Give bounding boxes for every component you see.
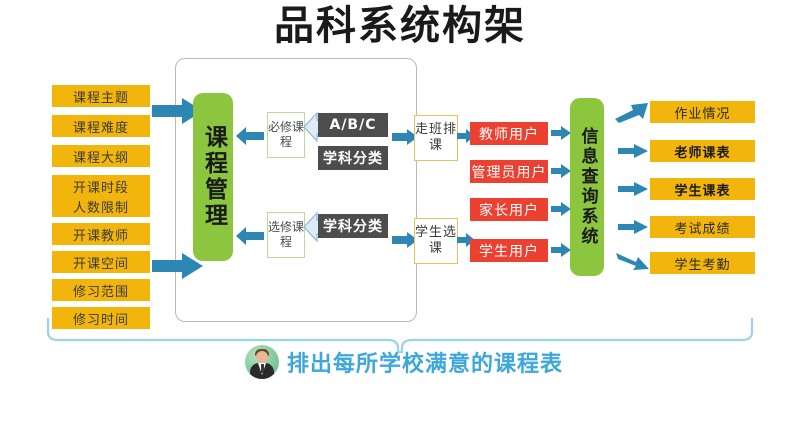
input-box-label: 课程主题 (73, 87, 129, 106)
user-label: 学生用户 (479, 241, 539, 261)
classification-label: A/B/C (329, 117, 376, 133)
arrow-student-to-query-system (551, 243, 571, 257)
input-box-course-difficulty[interactable]: 课程难度 (52, 115, 150, 137)
course-type-box-required[interactable]: 必修课程 (267, 112, 305, 158)
input-box-label: 开课时段 (73, 177, 129, 196)
arrow-elective-to-core (236, 227, 264, 245)
arrow-query-to-student-timetable (618, 182, 648, 196)
arrow-parent-to-query-system (551, 202, 571, 216)
classification-box-abc[interactable]: A/B/C (318, 113, 388, 137)
output-box-homework[interactable]: 作业情况 (650, 101, 755, 123)
course-type-box-elective[interactable]: 选修课程 (267, 212, 305, 258)
arrow-query-to-homework (615, 103, 649, 123)
user-box-parent[interactable]: 家长用户 (470, 198, 548, 221)
classification-label: 学科分类 (323, 216, 383, 236)
classification-label: 学科分类 (323, 148, 383, 168)
summary-caption: 排出每所学校满意的课程表 (245, 345, 563, 379)
output-label: 老师课表 (674, 142, 730, 161)
output-box-teacher-timetable[interactable]: 老师课表 (650, 140, 755, 162)
summary-caption-text: 排出每所学校满意的课程表 (287, 346, 563, 378)
diagram-canvas: 品科系统构架 课程主题 课程难度 课程大纲 开课时段 人数限制 开课教师 开课空… (0, 0, 800, 441)
arrow-required-to-core (236, 127, 264, 145)
arrow-teacher-to-query-system (551, 126, 571, 140)
course-type-label: 选修课程 (268, 220, 304, 250)
input-box-course-topic[interactable]: 课程主题 (52, 85, 150, 107)
input-box-capacity-limit[interactable]: 人数限制 (52, 195, 150, 217)
output-label: 学生课表 (674, 180, 730, 199)
core-box-label: 课程管理 (202, 125, 225, 229)
input-box-teacher[interactable]: 开课教师 (52, 223, 150, 245)
input-box-label: 开课空间 (73, 253, 129, 272)
page-title: 品科系统构架 (0, 2, 800, 50)
input-box-label: 人数限制 (73, 197, 129, 216)
scheduling-box-class-rotation[interactable]: 走班排课 (414, 115, 458, 161)
core-box-course-management[interactable]: 课程管理 (193, 93, 233, 261)
arrow-query-to-teacher-timetable (618, 144, 648, 158)
user-box-student[interactable]: 学生用户 (470, 239, 548, 262)
classification-box-subject-required[interactable]: 学科分类 (318, 146, 388, 170)
input-box-classroom[interactable]: 开课空间 (52, 251, 150, 273)
arrow-query-to-attendance (616, 250, 650, 270)
output-label: 考试成绩 (674, 218, 730, 237)
output-label: 学生考勤 (674, 254, 730, 273)
output-box-attendance[interactable]: 学生考勤 (650, 252, 755, 274)
input-box-course-period[interactable]: 开课时段 (52, 175, 150, 197)
output-box-student-timetable[interactable]: 学生课表 (650, 178, 755, 200)
input-box-label: 开课教师 (73, 225, 129, 244)
input-box-study-scope[interactable]: 修习范围 (52, 279, 150, 301)
input-box-label: 修习范围 (73, 281, 129, 300)
user-box-admin[interactable]: 管理员用户 (470, 160, 548, 183)
person-avatar-icon (245, 345, 279, 379)
arrow-query-to-exam-score (618, 220, 648, 234)
input-box-label: 课程大纲 (73, 147, 129, 166)
classification-box-subject-elective[interactable]: 学科分类 (318, 214, 388, 238)
user-box-teacher[interactable]: 教师用户 (470, 122, 548, 145)
scheduling-label: 走班排课 (415, 122, 457, 154)
scheduling-box-student-selection[interactable]: 学生选课 (414, 218, 458, 264)
query-system-label: 信息查询系统 (579, 127, 596, 247)
output-box-exam-score[interactable]: 考试成绩 (650, 216, 755, 238)
scheduling-label: 学生选课 (415, 225, 457, 257)
user-label: 教师用户 (479, 124, 539, 144)
input-box-label: 课程难度 (73, 117, 129, 136)
output-label: 作业情况 (674, 103, 730, 122)
course-type-label: 必修课程 (268, 120, 304, 150)
user-label: 管理员用户 (472, 162, 547, 182)
input-box-course-outline[interactable]: 课程大纲 (52, 145, 150, 167)
user-label: 家长用户 (479, 200, 539, 220)
arrow-admin-to-query-system (551, 164, 571, 178)
query-system-box[interactable]: 信息查询系统 (570, 98, 604, 276)
